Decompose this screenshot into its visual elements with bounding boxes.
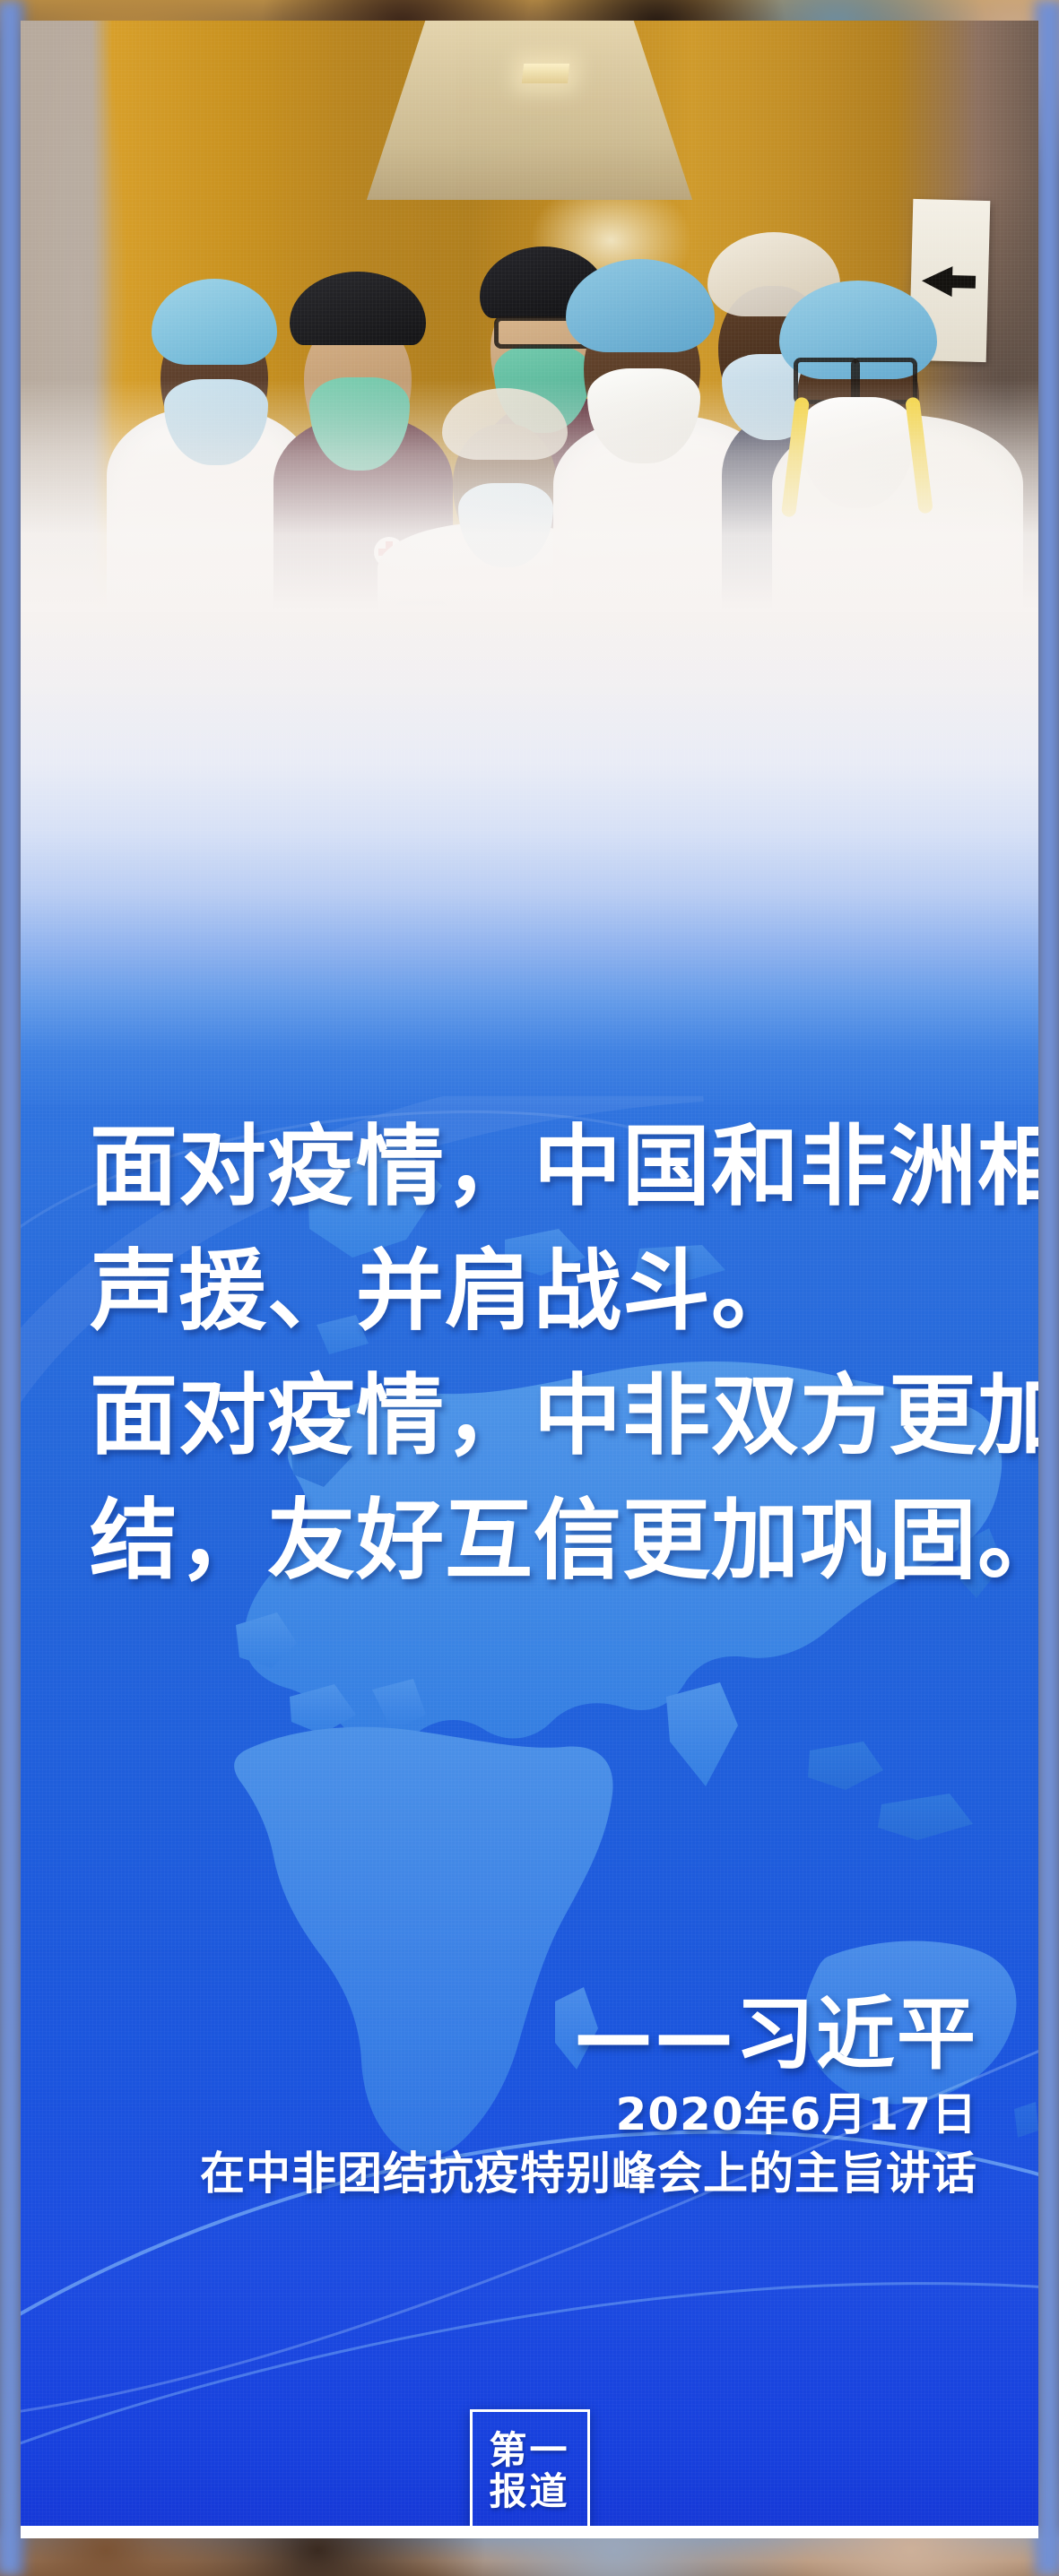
gradient-transition bbox=[21, 612, 1038, 1114]
logo-line-2: 报道 bbox=[489, 2472, 569, 2511]
quote-line-3: 面对疫情，中非双方更加团 bbox=[90, 1354, 995, 1479]
logo-line-1: 第一 bbox=[489, 2431, 569, 2470]
first-report-logo: 第一 报道 bbox=[470, 2409, 590, 2533]
quote-line-1: 面对疫情，中国和非洲相互 bbox=[90, 1105, 995, 1230]
backdrop-right-edge bbox=[1036, 0, 1059, 2576]
quote-text: 面对疫情，中国和非洲相互 声援、并肩战斗。 面对疫情，中非双方更加团 结，友好互… bbox=[90, 1105, 995, 1604]
quote-line-2: 声援、并肩战斗。 bbox=[90, 1230, 995, 1354]
speech-occasion: 在中非团结抗疫特别峰会上的主旨讲话 bbox=[200, 2138, 977, 2202]
arrow-icon bbox=[922, 265, 953, 297]
speaker-signature: ——习近平 bbox=[574, 1971, 977, 2085]
quote-line-4: 结，友好互信更加巩固。 bbox=[90, 1479, 995, 1604]
bottom-white-strip bbox=[21, 2526, 1038, 2538]
main-panel: 面对疫情，中国和非洲相互 声援、并肩战斗。 面对疫情，中非双方更加团 结，友好互… bbox=[21, 21, 1038, 2537]
poster-root: 面对疫情，中国和非洲相互 声援、并肩战斗。 面对疫情，中非双方更加团 结，友好互… bbox=[0, 0, 1059, 2576]
photo-bottom-fade bbox=[21, 379, 1038, 648]
ceiling-light-icon bbox=[522, 64, 569, 83]
hero-photo bbox=[21, 21, 1038, 648]
speech-date: 2020年6月17日 bbox=[615, 2079, 977, 2143]
